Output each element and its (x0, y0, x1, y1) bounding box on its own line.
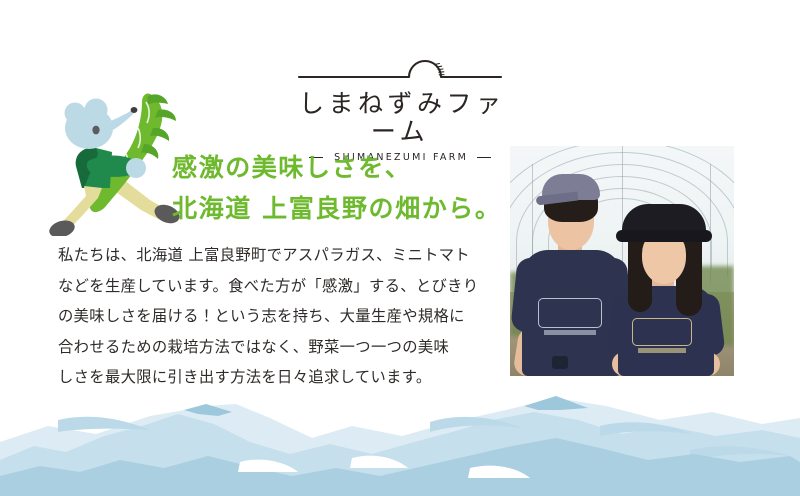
farmers-couple-greenhouse-photo (510, 146, 734, 376)
greenhouse-post (622, 146, 623, 276)
tagline: 感激の美味しさを、 北海道 上富良野の畑から。 (172, 148, 502, 229)
tshirt-logo-text (544, 330, 596, 335)
brand-logo-block: しまねずみファーム SHIMANEZUMI FARM (286, 44, 514, 163)
person-right-hat-brim (616, 230, 712, 242)
body-copy-line-4: 合わせるための栽培方法ではなく、野菜一つ一つの美味 (58, 332, 490, 363)
mouse-arch-logo-mark (297, 44, 503, 84)
body-copy: 私たちは、北海道 上富良野町でアスパラガス、ミニトマト などを生産しています。食… (58, 240, 490, 393)
body-copy-line-1: 私たちは、北海道 上富良野町でアスパラガス、ミニトマト (58, 240, 490, 271)
watercolor-mountain-range (0, 376, 800, 496)
tagline-line-1: 感激の美味しさを、 (172, 148, 502, 189)
logo-wordmark: しまねずみファーム (286, 90, 514, 145)
tagline-line-2: 北海道 上富良野の畑から。 (172, 189, 502, 230)
page-root: { "page": { "background_color": "#ffffff… (0, 0, 800, 496)
wristwatch (552, 356, 568, 369)
tshirt-logo-text (638, 348, 686, 353)
tshirt-logo-print (632, 318, 692, 346)
tshirt-logo-print (538, 298, 602, 328)
body-copy-line-2: などを生産しています。食べた方が「感激」する、とびきり (58, 271, 490, 302)
body-copy-line-3: の美味しさを届ける！という志を持ち、大量生産や規格に (58, 301, 490, 332)
